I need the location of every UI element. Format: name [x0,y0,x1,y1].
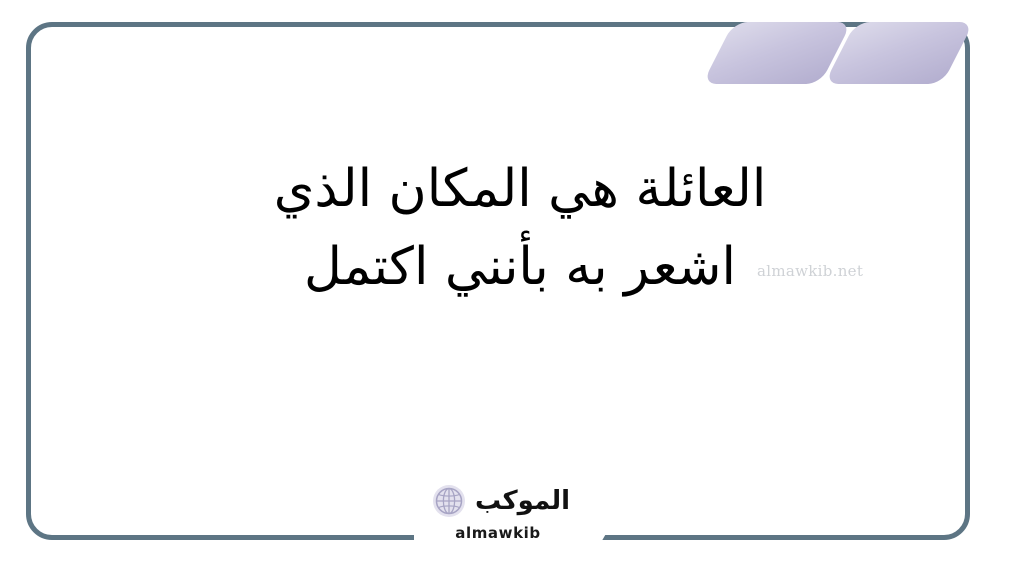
logo-primary-row: الموكب [432,484,570,518]
quote-line-1: العائلة هي المكان الذي [120,150,920,228]
quote-text-block: العائلة هي المكان الذي اشعر به بأنني اكت… [120,150,920,306]
globe-icon [432,484,466,518]
logo-latin-wordmark: almawkib [414,524,582,542]
logo-arabic-wordmark: الموكب [475,484,570,518]
quote-card-canvas: العائلة هي المكان الذي اشعر به بأنني اكت… [0,0,1024,576]
brand-logo[interactable]: الموكب almawkib [414,480,614,548]
site-watermark: almawkib.net [757,262,863,280]
